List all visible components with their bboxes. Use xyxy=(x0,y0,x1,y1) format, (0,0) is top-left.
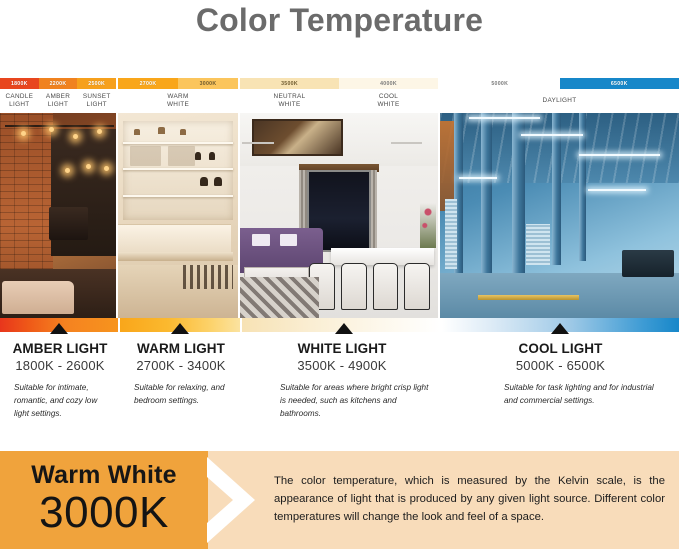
description-title: AMBER LIGHT xyxy=(0,341,120,357)
kelvin-chip-2500k: 2500K xyxy=(77,78,116,89)
decor-vase xyxy=(195,152,201,160)
banner-label: Warm White xyxy=(31,463,177,488)
scale-marker-warm xyxy=(171,323,189,334)
scale-marker-cool xyxy=(551,323,569,334)
caption-line1: WARM xyxy=(167,93,188,101)
page-title: Color Temperature xyxy=(196,2,483,39)
panel-warm: 2700K 3000K WARM WHITE xyxy=(118,78,240,318)
light-strip xyxy=(469,117,541,119)
photo-modern-living-dining xyxy=(240,113,438,318)
caption-line2: LIGHT xyxy=(48,101,68,109)
dining-chair xyxy=(341,263,367,310)
description-kelvin-range: 5000K - 6500K xyxy=(442,358,679,374)
kelvin-chip-1800k: 1800K xyxy=(0,78,39,89)
column xyxy=(481,113,492,285)
caption-line1: DAYLIGHT xyxy=(543,97,577,105)
light-strip xyxy=(579,154,660,156)
flower-plant xyxy=(420,203,436,248)
loading-bay-shutter xyxy=(445,199,457,269)
shelf xyxy=(123,168,233,170)
chip-row-warm: 2700K 3000K xyxy=(118,78,238,89)
cushion xyxy=(280,234,298,246)
kelvin-chip-2700k: 2700K xyxy=(118,78,178,89)
decor-vase xyxy=(200,177,208,186)
caption-amber-light: AMBER LIGHT xyxy=(39,89,78,113)
description-title: WHITE LIGHT xyxy=(242,341,442,357)
caption-line2: WHITE xyxy=(278,101,300,109)
banner-highlight: Warm White 3000K xyxy=(0,451,208,549)
light-strip xyxy=(588,189,645,191)
caption-candle-light: CANDLE LIGHT xyxy=(0,89,39,113)
banner-description: The color temperature, which is measured… xyxy=(208,451,679,549)
coffee-table xyxy=(118,252,233,260)
column xyxy=(512,113,525,285)
caption-warm-white: WARM WHITE xyxy=(118,89,238,113)
caption-line2: WHITE xyxy=(377,101,399,109)
description-kelvin-range: 3500K - 4900K xyxy=(242,358,442,374)
caption-row-white: NEUTRAL WHITE COOL WHITE xyxy=(240,89,438,113)
caption-line2: LIGHT xyxy=(9,101,29,109)
decor-object xyxy=(158,127,165,134)
caption-row-cool: DAYLIGHT xyxy=(440,89,679,113)
decor-vase xyxy=(214,177,222,186)
kelvin-chip-3500k: 3500K xyxy=(240,78,339,89)
dining-chair xyxy=(404,263,430,310)
caption-line2: LIGHT xyxy=(87,101,107,109)
panel-amber: 1800K 2200K 2500K CANDLE LIGHT AMBER LIG… xyxy=(0,78,118,318)
kelvin-chip-2200k: 2200K xyxy=(39,78,78,89)
panel-white: 3500K 4000K NEUTRAL WHITE COOL WHITE xyxy=(240,78,440,318)
caption-sunset-light: SUNSET LIGHT xyxy=(77,89,116,113)
caption-line1: SUNSET xyxy=(83,93,111,101)
description-white-light: WHITE LIGHT 3500K - 4900K Suitable for a… xyxy=(242,341,442,420)
banner-body-text: The color temperature, which is measured… xyxy=(274,473,665,527)
shelving-unit xyxy=(123,121,233,219)
caption-row-amber: CANDLE LIGHT AMBER LIGHT SUNSET LIGHT xyxy=(0,89,116,113)
caption-row-warm: WARM WHITE xyxy=(118,89,238,113)
chess-set xyxy=(183,265,233,290)
decor-vase xyxy=(209,152,215,160)
description-amber-light: AMBER LIGHT 1800K - 2600K Suitable for i… xyxy=(0,341,120,420)
description-title: WARM LIGHT xyxy=(120,341,242,357)
description-kelvin-range: 2700K - 3400K xyxy=(120,358,242,374)
shelf xyxy=(123,142,233,144)
photo-brick-cafe xyxy=(0,113,116,318)
dining-chair xyxy=(373,263,399,310)
scale-marker-white xyxy=(335,323,353,334)
decor-object xyxy=(180,129,186,135)
caption-line1: CANDLE xyxy=(5,93,33,101)
description-title: COOL LIGHT xyxy=(442,341,679,357)
ceiling-panel xyxy=(252,119,343,156)
caption-daylight: DAYLIGHT xyxy=(440,89,679,113)
summary-banner: Warm White 3000K The color temperature, … xyxy=(0,451,679,549)
chevron-right-icon xyxy=(207,451,263,549)
kelvin-chip-3000k: 3000K xyxy=(178,78,238,89)
caption-line1: COOL xyxy=(379,93,398,101)
title-bar: Color Temperature xyxy=(0,0,679,78)
description-row: AMBER LIGHT 1800K - 2600K Suitable for i… xyxy=(0,332,679,420)
panel-cool: 5000K 6500K DAYLIGHT xyxy=(440,78,679,318)
bulb-icon xyxy=(73,134,78,139)
chip-row-amber: 1800K 2200K 2500K xyxy=(0,78,116,89)
loading-bay-shutter xyxy=(526,224,550,265)
ceiling-fan xyxy=(391,142,423,144)
patterned-rug xyxy=(240,277,319,318)
description-note: Suitable for areas where bright crisp li… xyxy=(242,382,442,420)
kelvin-chip-5000k: 5000K xyxy=(440,78,560,89)
sofa xyxy=(2,281,74,314)
yellow-guard-rail xyxy=(478,295,578,300)
chip-row-white: 3500K 4000K xyxy=(240,78,438,89)
shelf-niche xyxy=(168,146,194,167)
caption-line2: WHITE xyxy=(167,101,189,109)
column xyxy=(552,113,561,265)
kelvin-chip-6500k: 6500K xyxy=(560,78,679,89)
kelvin-chip-4000k: 4000K xyxy=(339,78,438,89)
shelf xyxy=(123,195,233,197)
description-note: Suitable for task lighting and for indus… xyxy=(442,382,679,407)
caption-line1: NEUTRAL xyxy=(274,93,306,101)
caption-line1: AMBER xyxy=(46,93,70,101)
banner-kelvin: 3000K xyxy=(39,490,169,537)
color-temperature-scale xyxy=(0,318,679,332)
infographic-root: Color Temperature 1800K 2200K 2500K CAND… xyxy=(0,0,679,557)
light-rail xyxy=(5,125,114,127)
truck xyxy=(622,250,675,277)
description-kelvin-range: 1800K - 2600K xyxy=(0,358,120,374)
description-note: Suitable for relaxing, and bedroom setti… xyxy=(120,382,242,407)
cushion xyxy=(252,234,270,246)
photo-industrial-warehouse xyxy=(440,113,679,318)
caption-neutral-white: NEUTRAL WHITE xyxy=(240,89,339,113)
shelf-niche xyxy=(130,146,161,167)
scale-marker-amber xyxy=(50,323,68,334)
caption-cool-white: COOL WHITE xyxy=(339,89,438,113)
description-note: Suitable for intimate, romantic, and coz… xyxy=(0,382,120,420)
photo-cream-living-room xyxy=(118,113,238,318)
description-warm-light: WARM LIGHT 2700K - 3400K Suitable for re… xyxy=(120,341,242,420)
light-strip xyxy=(459,177,497,179)
panel-board: 1800K 2200K 2500K CANDLE LIGHT AMBER LIG… xyxy=(0,78,679,318)
description-cool-light: COOL LIGHT 5000K - 6500K Suitable for ta… xyxy=(442,341,679,420)
light-strip xyxy=(521,134,583,136)
ceiling-fan xyxy=(242,142,274,144)
chip-row-cool: 5000K 6500K xyxy=(440,78,679,89)
decor-object xyxy=(134,129,140,135)
